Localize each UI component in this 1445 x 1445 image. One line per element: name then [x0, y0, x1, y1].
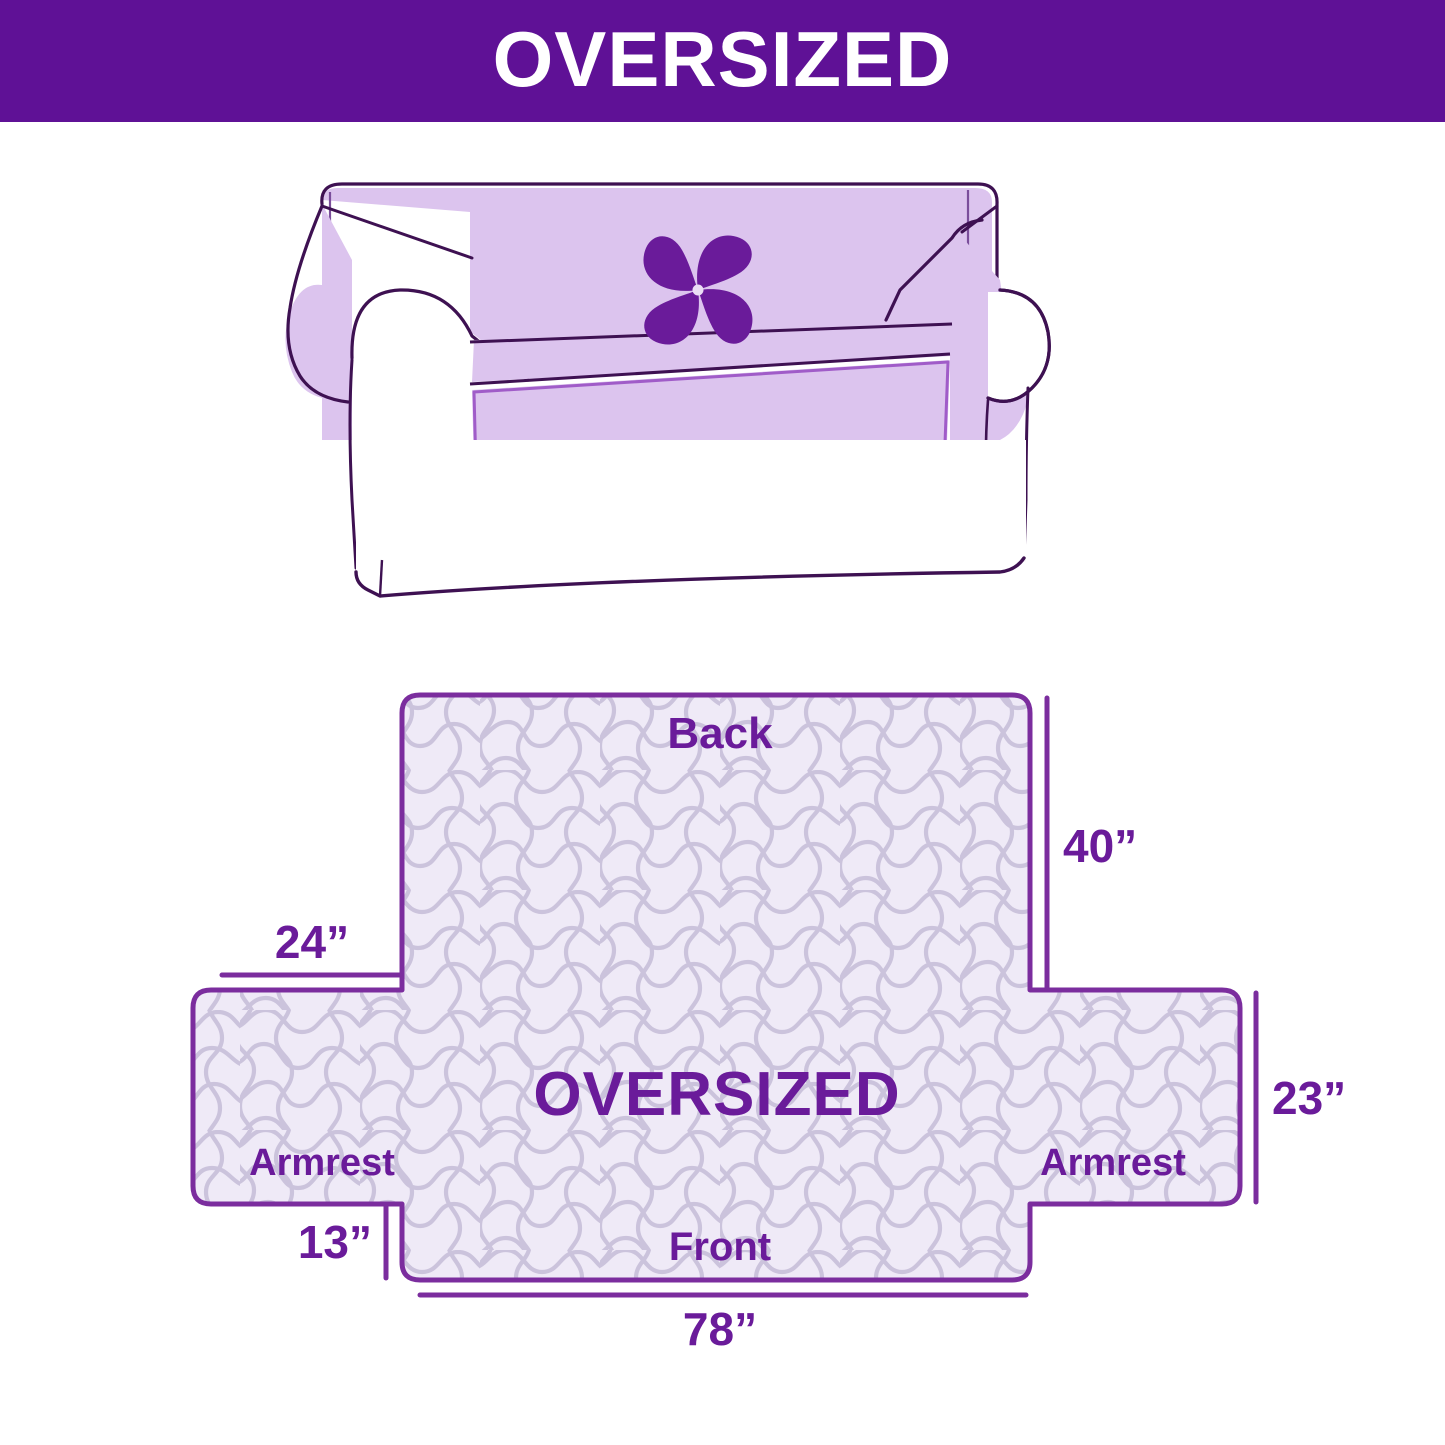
dimension-armrest-width: 24”	[275, 916, 349, 968]
dimension-front-drop: 13”	[298, 1216, 372, 1268]
flat-pattern-diagram: Back OVERSIZED Armrest Armrest Front 40”…	[0, 650, 1445, 1390]
label-armrest-right: Armrest	[1040, 1142, 1186, 1184]
dimension-armrest-height: 23”	[1272, 1072, 1346, 1124]
page-title: OVERSIZED	[493, 20, 953, 98]
sofa-diagram	[0, 140, 1445, 640]
dimension-front-width: 78”	[683, 1303, 757, 1355]
label-center-oversized: OVERSIZED	[533, 1060, 900, 1129]
flat-pattern-container: Back OVERSIZED Armrest Armrest Front 40”…	[0, 650, 1445, 1390]
header-banner: OVERSIZED	[0, 0, 1445, 122]
label-back: Back	[667, 709, 773, 758]
label-front: Front	[669, 1225, 771, 1269]
sofa-illustration-container	[0, 140, 1445, 640]
dimension-back-height: 40”	[1063, 820, 1137, 872]
sofa-left-outer-arm	[285, 204, 352, 440]
label-armrest-left: Armrest	[249, 1142, 395, 1184]
